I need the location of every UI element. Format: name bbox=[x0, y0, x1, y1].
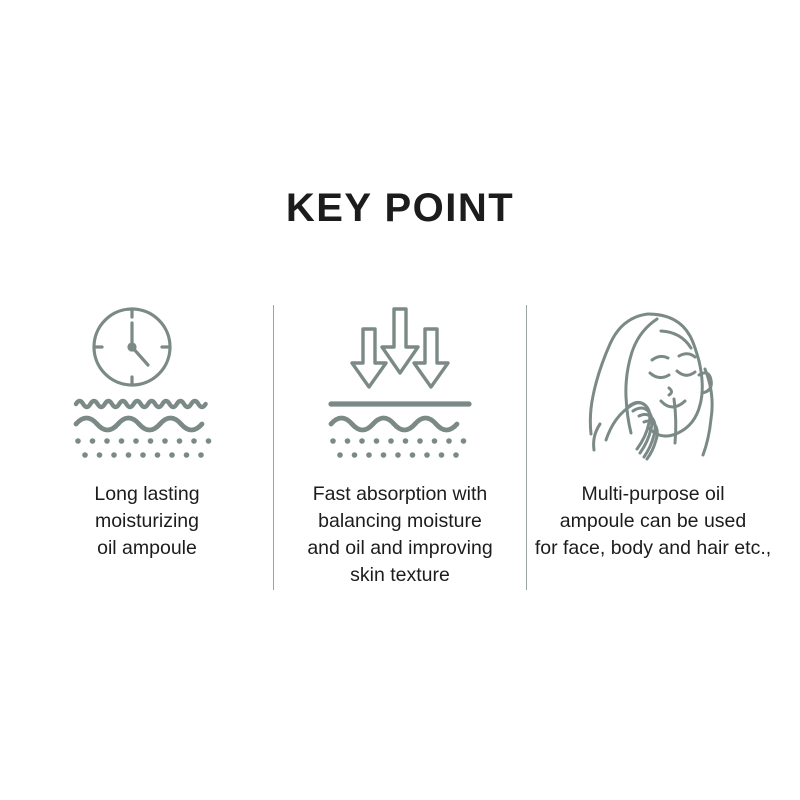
feature-item-long-lasting: Long lasting moisturizing oil ampoule bbox=[21, 300, 273, 562]
key-point-infographic: KEY POINT bbox=[0, 0, 800, 800]
feature-caption: Multi-purpose oil ampoule can be used fo… bbox=[529, 481, 777, 562]
feature-list: Long lasting moisturizing oil ampoule bbox=[0, 300, 800, 600]
feature-caption: Long lasting moisturizing oil ampoule bbox=[88, 481, 205, 562]
feature-item-multi-purpose: Multi-purpose oil ampoule can be used fo… bbox=[527, 300, 779, 562]
feature-caption: Fast absorption with balancing moisture … bbox=[301, 481, 498, 589]
clock-over-skin-layers-icon bbox=[72, 300, 222, 465]
absorption-arrows-into-skin-icon bbox=[325, 300, 475, 465]
feature-item-fast-absorption: Fast absorption with balancing moisture … bbox=[274, 300, 526, 589]
woman-applying-oil-to-face-icon bbox=[573, 300, 733, 465]
page-title: KEY POINT bbox=[0, 186, 800, 231]
